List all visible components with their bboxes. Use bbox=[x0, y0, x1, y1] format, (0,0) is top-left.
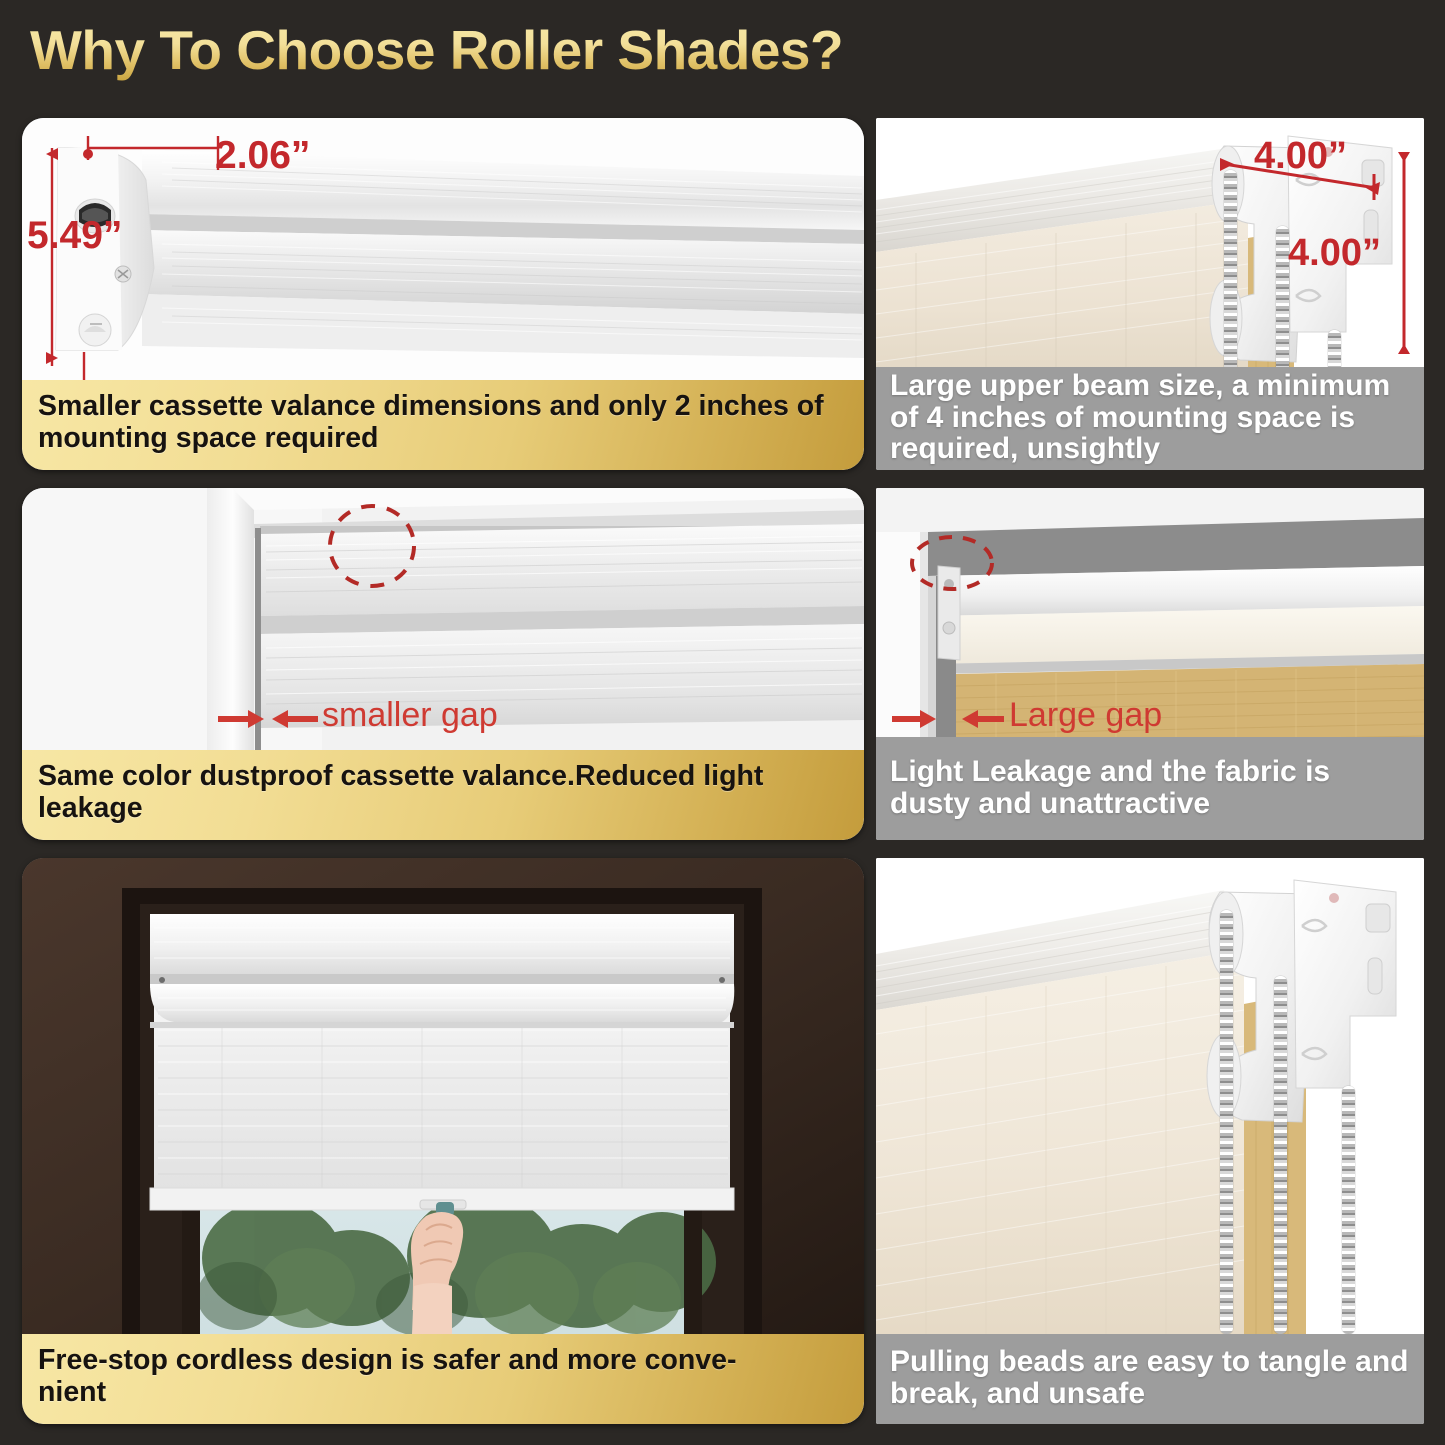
panel-good-1-caption-text: Smaller cassette valance dimensions and … bbox=[38, 391, 848, 455]
panel-good-2-photo: smaller gap bbox=[22, 488, 864, 750]
panel-good-1-photo: 2.06” 5.49” bbox=[22, 118, 864, 380]
dim-label-top-width: 4.00” bbox=[1254, 135, 1347, 178]
panel-bad-1-caption: Large upper beam size, a minimum of 4 in… bbox=[876, 367, 1424, 470]
panel-bad-1: 4.00” 4.00” Large upper beam size, a min… bbox=[876, 118, 1424, 470]
panel-good-1-caption: Smaller cassette valance dimensions and … bbox=[22, 380, 864, 470]
panel-bad-1-caption-text: Large upper beam size, a minimum of 4 in… bbox=[890, 370, 1410, 465]
panel-bad-1-photo: 4.00” 4.00” bbox=[876, 118, 1424, 380]
bead-chain-left bbox=[1224, 170, 1237, 380]
panel-bad-2: Large gap Light Leakage and the fabric i… bbox=[876, 488, 1424, 840]
cassette-valance-illustration bbox=[22, 118, 864, 380]
panel-bad-3-caption: Pulling beads are easy to tangle and bre… bbox=[876, 1334, 1424, 1424]
panel-bad-3-caption-text: Pulling beads are easy to tangle and bre… bbox=[890, 1346, 1410, 1410]
caption-line-1: Free-stop cordless design is safer and m… bbox=[38, 1344, 736, 1376]
panel-good-2-caption-text: Same color dustproof cassette valance.Re… bbox=[38, 761, 848, 825]
panel-good-2: smaller gap Same color dustproof cassett… bbox=[22, 488, 864, 840]
panel-good-2-caption: Same color dustproof cassette valance.Re… bbox=[22, 750, 864, 840]
panel-bad-3-photo bbox=[876, 858, 1424, 1334]
bead-chain-middle bbox=[1274, 976, 1287, 1334]
panel-bad-2-caption-text: Light Leakage and the fabric is dusty an… bbox=[890, 756, 1410, 820]
panel-good-1: 2.06” 5.49” Smaller cassette valance dim… bbox=[22, 118, 864, 470]
panel-good-3-caption-text: Free-stop cordless design is safer and m… bbox=[38, 1345, 736, 1409]
panel-good-3: Free-stop cordless design is safer and m… bbox=[22, 858, 864, 1424]
panel-grid: 2.06” 5.49” Smaller cassette valance dim… bbox=[0, 0, 1445, 1445]
cordless-shade-window-illustration bbox=[22, 858, 864, 1334]
bead-chain-left bbox=[1220, 910, 1233, 1334]
panel-bad-2-caption: Light Leakage and the fabric is dusty an… bbox=[876, 737, 1424, 840]
dim-label-width: 2.06” bbox=[215, 134, 310, 178]
panel-bad-2-photo: Large gap bbox=[876, 488, 1424, 750]
dim-label-height: 5.49” bbox=[27, 214, 122, 258]
panel-bad-3: Pulling beads are easy to tangle and bre… bbox=[876, 858, 1424, 1424]
caption-line-2: nient bbox=[38, 1376, 106, 1408]
panel-good-3-photo bbox=[22, 858, 864, 1334]
panel-good-3-caption: Free-stop cordless design is safer and m… bbox=[22, 1334, 864, 1424]
bead-chain-right bbox=[1342, 1086, 1355, 1334]
gap-label-smaller: smaller gap bbox=[322, 696, 498, 735]
gap-label-large: Large gap bbox=[1009, 696, 1162, 735]
dim-label-side-height: 4.00” bbox=[1288, 232, 1381, 275]
